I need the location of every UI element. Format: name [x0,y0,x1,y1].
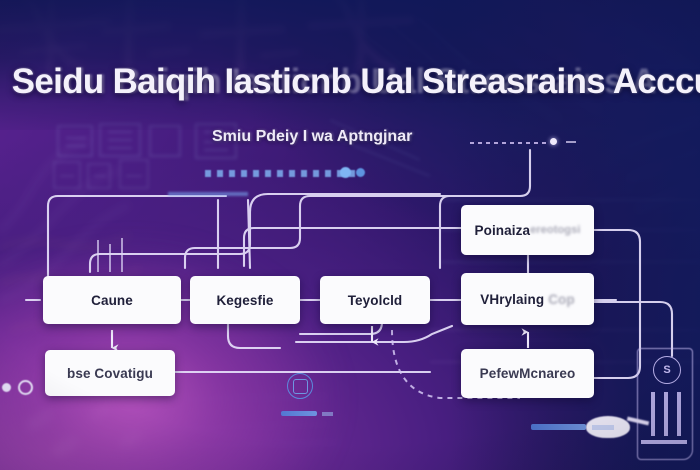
vignette-overlay [0,0,700,470]
illustration-canvas: Seidu Baiqih Iasticnb Ual Streasrains Ac… [0,0,700,470]
